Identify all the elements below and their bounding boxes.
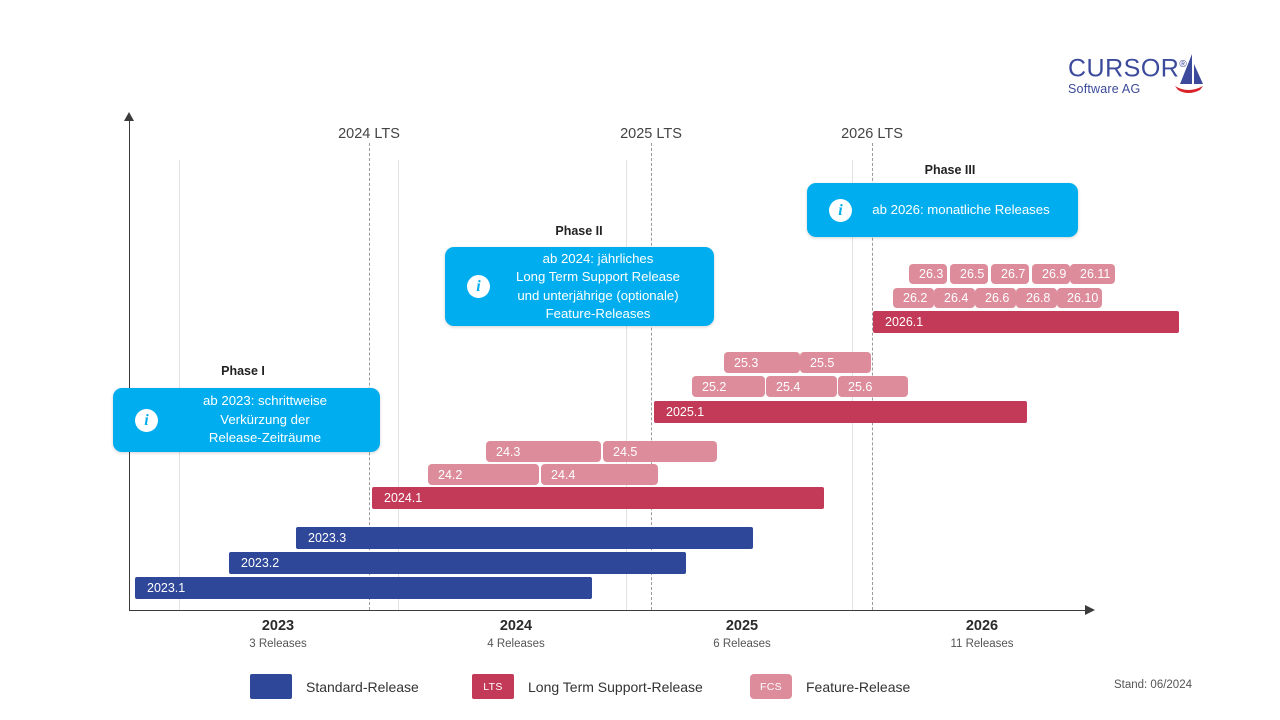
gridline-0 — [179, 160, 180, 610]
legend-item-lts[interactable]: LTSLong Term Support-Release — [472, 674, 703, 699]
legend-label: Standard-Release — [306, 679, 419, 695]
year-tick-2024: 20244 Releases — [487, 617, 545, 652]
year-tick-releases: 3 Releases — [249, 636, 307, 652]
release-bar-label: 26.5 — [950, 267, 984, 281]
release-bar-label: 25.2 — [692, 380, 726, 394]
release-bar-label: 2024.1 — [372, 491, 422, 505]
x-axis-line — [129, 610, 1087, 611]
release-bar-24-4[interactable]: 24.4 — [541, 464, 658, 485]
info-icon: i — [829, 199, 852, 222]
callout-text: ab 2024: jährliches Long Term Support Re… — [490, 250, 714, 324]
logo-wordmark-text: CURSOR — [1068, 54, 1179, 82]
legend-swatch-fcs: FCS — [750, 674, 792, 699]
x-axis-arrow-icon — [1085, 605, 1095, 615]
release-bar-24-2[interactable]: 24.2 — [428, 464, 539, 485]
release-bar-label: 2025.1 — [654, 405, 704, 419]
release-bar-label: 26.4 — [934, 291, 968, 305]
release-bar-24-5[interactable]: 24.5 — [603, 441, 717, 462]
callout-phase-3[interactable]: iab 2026: monatliche Releases — [807, 183, 1078, 237]
legend-label: Long Term Support-Release — [528, 679, 703, 695]
year-tick-2025: 20256 Releases — [713, 617, 771, 652]
release-bar-26-9[interactable]: 26.9 — [1032, 264, 1070, 284]
release-bar-label: 26.10 — [1057, 291, 1098, 305]
callout-text: ab 2023: schrittweise Verkürzung der Rel… — [158, 392, 380, 448]
release-bar-25-3[interactable]: 25.3 — [724, 352, 800, 373]
release-bar-2023-2[interactable]: 2023.2 — [229, 552, 686, 574]
release-bar-2026-1[interactable]: 2026.1 — [873, 311, 1179, 333]
release-bar-26-3[interactable]: 26.3 — [909, 264, 947, 284]
legend-swatch-lts: LTS — [472, 674, 514, 699]
release-bar-label: 26.3 — [909, 267, 943, 281]
release-bar-label: 2023.1 — [135, 581, 185, 595]
release-bar-2023-3[interactable]: 2023.3 — [296, 527, 753, 549]
release-bar-label: 24.4 — [541, 468, 575, 482]
release-bar-26-4[interactable]: 26.4 — [934, 288, 975, 308]
release-bar-2025-1[interactable]: 2025.1 — [654, 401, 1027, 423]
release-bar-25-5[interactable]: 25.5 — [800, 352, 871, 373]
release-bar-label: 26.7 — [991, 267, 1025, 281]
release-bar-26-10[interactable]: 26.10 — [1057, 288, 1102, 308]
lts-label-0: 2024 LTS — [338, 126, 400, 142]
year-tick-year: 2026 — [950, 617, 1013, 636]
y-axis-line — [129, 118, 130, 610]
info-icon: i — [135, 409, 158, 432]
lts-label-1: 2025 LTS — [620, 126, 682, 142]
slide-canvas: CURSOR® Software AG 2024 LTS2025 LTS2026… — [0, 0, 1280, 720]
release-bar-2024-1[interactable]: 2024.1 — [372, 487, 824, 509]
y-axis-arrow-icon — [124, 112, 134, 121]
release-bar-label: 26.8 — [1016, 291, 1050, 305]
legend-label: Feature-Release — [806, 679, 910, 695]
release-bar-25-4[interactable]: 25.4 — [766, 376, 837, 397]
release-bar-2023-1[interactable]: 2023.1 — [135, 577, 592, 599]
release-bar-label: 24.3 — [486, 445, 520, 459]
release-bar-label: 24.5 — [603, 445, 637, 459]
release-bar-26-5[interactable]: 26.5 — [950, 264, 988, 284]
release-bar-26-8[interactable]: 26.8 — [1016, 288, 1057, 308]
year-tick-year: 2024 — [487, 617, 545, 636]
legend-item-fcs[interactable]: FCSFeature-Release — [750, 674, 910, 699]
release-bar-26-11[interactable]: 26.11 — [1070, 264, 1115, 284]
phase-label-2: Phase II — [555, 224, 602, 238]
callout-text: ab 2026: monatliche Releases — [852, 201, 1078, 220]
release-bar-25-2[interactable]: 25.2 — [692, 376, 765, 397]
release-bar-label: 25.5 — [800, 356, 834, 370]
release-bar-label: 2023.3 — [296, 531, 346, 545]
year-tick-releases: 11 Releases — [950, 636, 1013, 652]
release-bar-26-7[interactable]: 26.7 — [991, 264, 1029, 284]
year-tick-releases: 4 Releases — [487, 636, 545, 652]
stand-date: Stand: 06/2024 — [1114, 679, 1192, 691]
release-bar-label: 24.2 — [428, 468, 462, 482]
release-bar-26-2[interactable]: 26.2 — [893, 288, 934, 308]
year-tick-2023: 20233 Releases — [249, 617, 307, 652]
release-bar-label: 25.3 — [724, 356, 758, 370]
callout-phase-2[interactable]: iab 2024: jährliches Long Term Support R… — [445, 247, 714, 326]
year-tick-2026: 202611 Releases — [950, 617, 1013, 652]
release-bar-24-3[interactable]: 24.3 — [486, 441, 601, 462]
release-bar-label: 26.2 — [893, 291, 927, 305]
sailboat-icon — [1170, 50, 1206, 96]
release-bar-label: 26.11 — [1070, 267, 1110, 281]
release-bar-26-6[interactable]: 26.6 — [975, 288, 1016, 308]
year-tick-releases: 6 Releases — [713, 636, 771, 652]
release-bar-25-6[interactable]: 25.6 — [838, 376, 908, 397]
release-bar-label: 25.6 — [838, 380, 872, 394]
legend: Standard-ReleaseLTSLong Term Support-Rel… — [250, 674, 1090, 702]
phase-label-3: Phase III — [925, 163, 976, 177]
release-bar-label: 26.9 — [1032, 267, 1066, 281]
phase-label-1: Phase I — [221, 364, 265, 378]
callout-phase-1[interactable]: iab 2023: schrittweise Verkürzung der Re… — [113, 388, 380, 452]
release-bar-label: 2023.2 — [229, 556, 279, 570]
release-bar-label: 25.4 — [766, 380, 800, 394]
legend-swatch-std — [250, 674, 292, 699]
legend-item-std[interactable]: Standard-Release — [250, 674, 419, 699]
year-tick-year: 2025 — [713, 617, 771, 636]
release-bar-label: 26.6 — [975, 291, 1009, 305]
lts-label-2: 2026 LTS — [841, 126, 903, 142]
release-bar-label: 2026.1 — [873, 315, 923, 329]
year-tick-year: 2023 — [249, 617, 307, 636]
info-icon: i — [467, 275, 490, 298]
